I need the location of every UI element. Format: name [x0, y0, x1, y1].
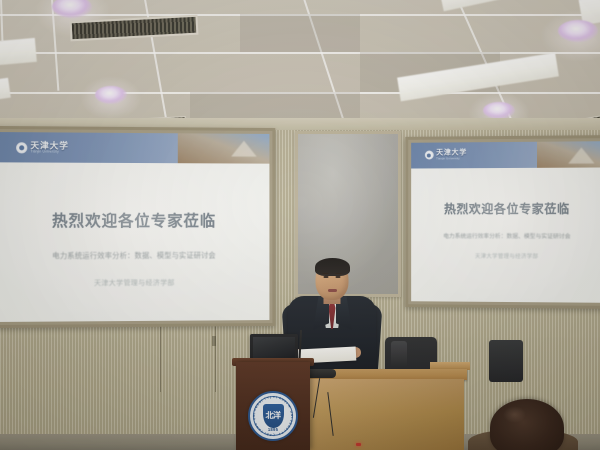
- slide-organizer: 天津大学管理与经济学部: [94, 278, 175, 288]
- glasses-icon: [319, 274, 346, 280]
- slide-body: 热烈欢迎各位专家莅临 电力系统运行效率分析：数据、模型与实证研讨会 天津大学管理…: [0, 162, 269, 322]
- university-emblem-icon: [424, 151, 433, 160]
- projection-screen-right: 天津大学 Tianjin University 热烈欢迎各位专家莅临 电力系统运…: [405, 135, 600, 309]
- equipment-box: [489, 340, 523, 382]
- logo-name-en: Tianjin University: [436, 158, 467, 161]
- university-logo: 天津大学 Tianjin University: [411, 150, 467, 161]
- recessed-downlight: [558, 20, 598, 42]
- slide-body: 热烈欢迎各位专家莅临 电力系统运行效率分析：数据、模型与实证研讨会 天津大学管理…: [411, 167, 600, 303]
- logo-name-en: Tianjin University: [30, 150, 69, 154]
- power-indicator-led: [356, 443, 361, 446]
- podium: TIANJIN UNIVERSITY (PEIYANG UNIVERSITY) …: [236, 362, 310, 450]
- university-emblem-icon: [16, 142, 27, 153]
- projection-screen-left: 天津大学 Tianjin University 热烈欢迎各位专家莅临 电力系统运…: [0, 126, 275, 328]
- logo-name-cn: 天津大学: [30, 141, 69, 150]
- emblem-shield-text: 北洋: [266, 412, 281, 420]
- recessed-downlight: [95, 86, 127, 104]
- campus-photo: [178, 133, 269, 163]
- attendee-head: [490, 399, 564, 450]
- mouth: [328, 289, 337, 292]
- emblem-year: 1895: [268, 427, 278, 432]
- slide-banner: 天津大学 Tianjin University: [0, 132, 269, 164]
- door-handle[interactable]: [212, 336, 216, 346]
- slide-title: 热烈欢迎各位专家莅临: [52, 209, 216, 231]
- campus-photo: [537, 141, 600, 167]
- slide-title: 热烈欢迎各位专家莅临: [444, 200, 570, 217]
- slide-banner: 天津大学 Tianjin University: [411, 141, 600, 168]
- emblem-shield-icon: 北洋: [263, 404, 284, 428]
- slide-subtitle: 电力系统运行效率分析：数据、模型与实证研讨会: [443, 231, 570, 240]
- speaker-head: [316, 260, 349, 300]
- lecture-hall-photo: 天津大学 Tianjin University 热烈欢迎各位专家莅临 电力系统运…: [0, 0, 600, 450]
- recessed-downlight: [483, 102, 515, 119]
- slide-left: 天津大学 Tianjin University 热烈欢迎各位专家莅临 电力系统运…: [0, 132, 269, 322]
- slide-subtitle: 电力系统运行效率分析：数据、模型与实证研讨会: [52, 250, 216, 260]
- podium-emblem: TIANJIN UNIVERSITY (PEIYANG UNIVERSITY) …: [248, 391, 298, 441]
- university-logo: 天津大学 Tianjin University: [0, 141, 69, 154]
- slide-organizer: 天津大学管理与经济学部: [475, 252, 538, 260]
- slide-right: 天津大学 Tianjin University 热烈欢迎各位专家莅临 电力系统运…: [411, 141, 600, 303]
